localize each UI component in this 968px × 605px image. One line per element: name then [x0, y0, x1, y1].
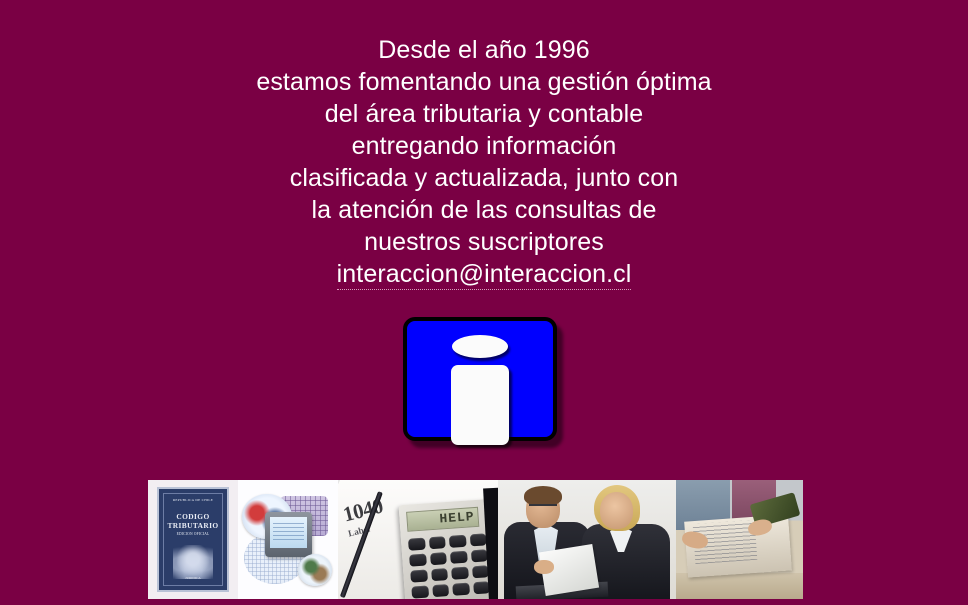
calculator-key [411, 585, 428, 598]
photo-strip: REPUBLICA DE CHILE CODIGO TRIBUTARIO EDI… [148, 480, 803, 599]
monitor-screen [270, 517, 307, 548]
codigo-tributario-book-cover: REPUBLICA DE CHILE CODIGO TRIBUTARIO EDI… [157, 487, 229, 592]
promotional-message: Desde el año 1996 estamos fomentando una… [0, 34, 968, 290]
calculator-key [470, 549, 487, 562]
information-icon-stem [451, 365, 509, 445]
calculator-key [408, 538, 425, 551]
calculator-key [431, 568, 448, 581]
calculator-key [452, 583, 469, 596]
calculator-key [450, 551, 467, 564]
calculator-key [451, 567, 468, 580]
eyeglasses-icon [529, 504, 557, 512]
contact-email-link[interactable]: interaccion@interaccion.cl [337, 260, 632, 290]
calculator-key [449, 535, 466, 548]
message-line-4: entregando información [0, 130, 968, 162]
book-country-text: REPUBLICA DE CHILE [159, 499, 227, 503]
message-line-2: estamos fomentando una gestión óptima [0, 66, 968, 98]
contact-email-line: interaccion@interaccion.cl [0, 258, 968, 290]
strip-panel-tecnologia [238, 480, 338, 599]
tech-photo-circle-small [298, 554, 332, 586]
calculator-key [409, 554, 426, 567]
message-line-3: del área tributaria y contable [0, 98, 968, 130]
calculator-keypad [408, 533, 490, 598]
information-icon-dot [452, 335, 508, 358]
businessman-hand [534, 560, 554, 574]
computer-monitor-icon [265, 512, 312, 557]
strip-panel-codigo-tributario: REPUBLICA DE CHILE CODIGO TRIBUTARIO EDI… [148, 480, 238, 599]
strip-panel-formulario-calculadora: 1040 Label HELP [338, 480, 498, 599]
strip-panel-asesoria [498, 480, 676, 599]
message-line-7: nuestros suscriptores [0, 226, 968, 258]
information-icon-wrapper[interactable] [403, 317, 565, 449]
strip-panel-revision [676, 480, 803, 599]
chile-coat-of-arms-icon [173, 545, 213, 579]
calculator-key [430, 552, 447, 565]
calculator-key [432, 584, 449, 597]
calculator-key [469, 533, 486, 546]
book-edition-text: EDICION OFICIAL [159, 532, 227, 536]
calculator-key [428, 536, 445, 549]
calculator-display: HELP [406, 507, 479, 532]
message-line-6: la atención de las consultas de [0, 194, 968, 226]
page-root: Desde el año 1996 estamos fomentando una… [0, 0, 968, 605]
calculator-icon: HELP [399, 499, 498, 599]
book-title-text: CODIGO TRIBUTARIO [159, 513, 227, 530]
calculator-key [410, 570, 427, 583]
book-title-line-2: TRIBUTARIO [167, 521, 218, 530]
businessman-hair [524, 486, 562, 506]
message-line-1: Desde el año 1996 [0, 34, 968, 66]
message-line-5: clasificada y actualizada, junto con [0, 162, 968, 194]
monitor-screen-text-lines [273, 522, 304, 540]
information-icon[interactable] [403, 317, 557, 441]
businesswoman-head [600, 492, 633, 529]
book-publisher-text: JURIDICA [159, 577, 227, 581]
